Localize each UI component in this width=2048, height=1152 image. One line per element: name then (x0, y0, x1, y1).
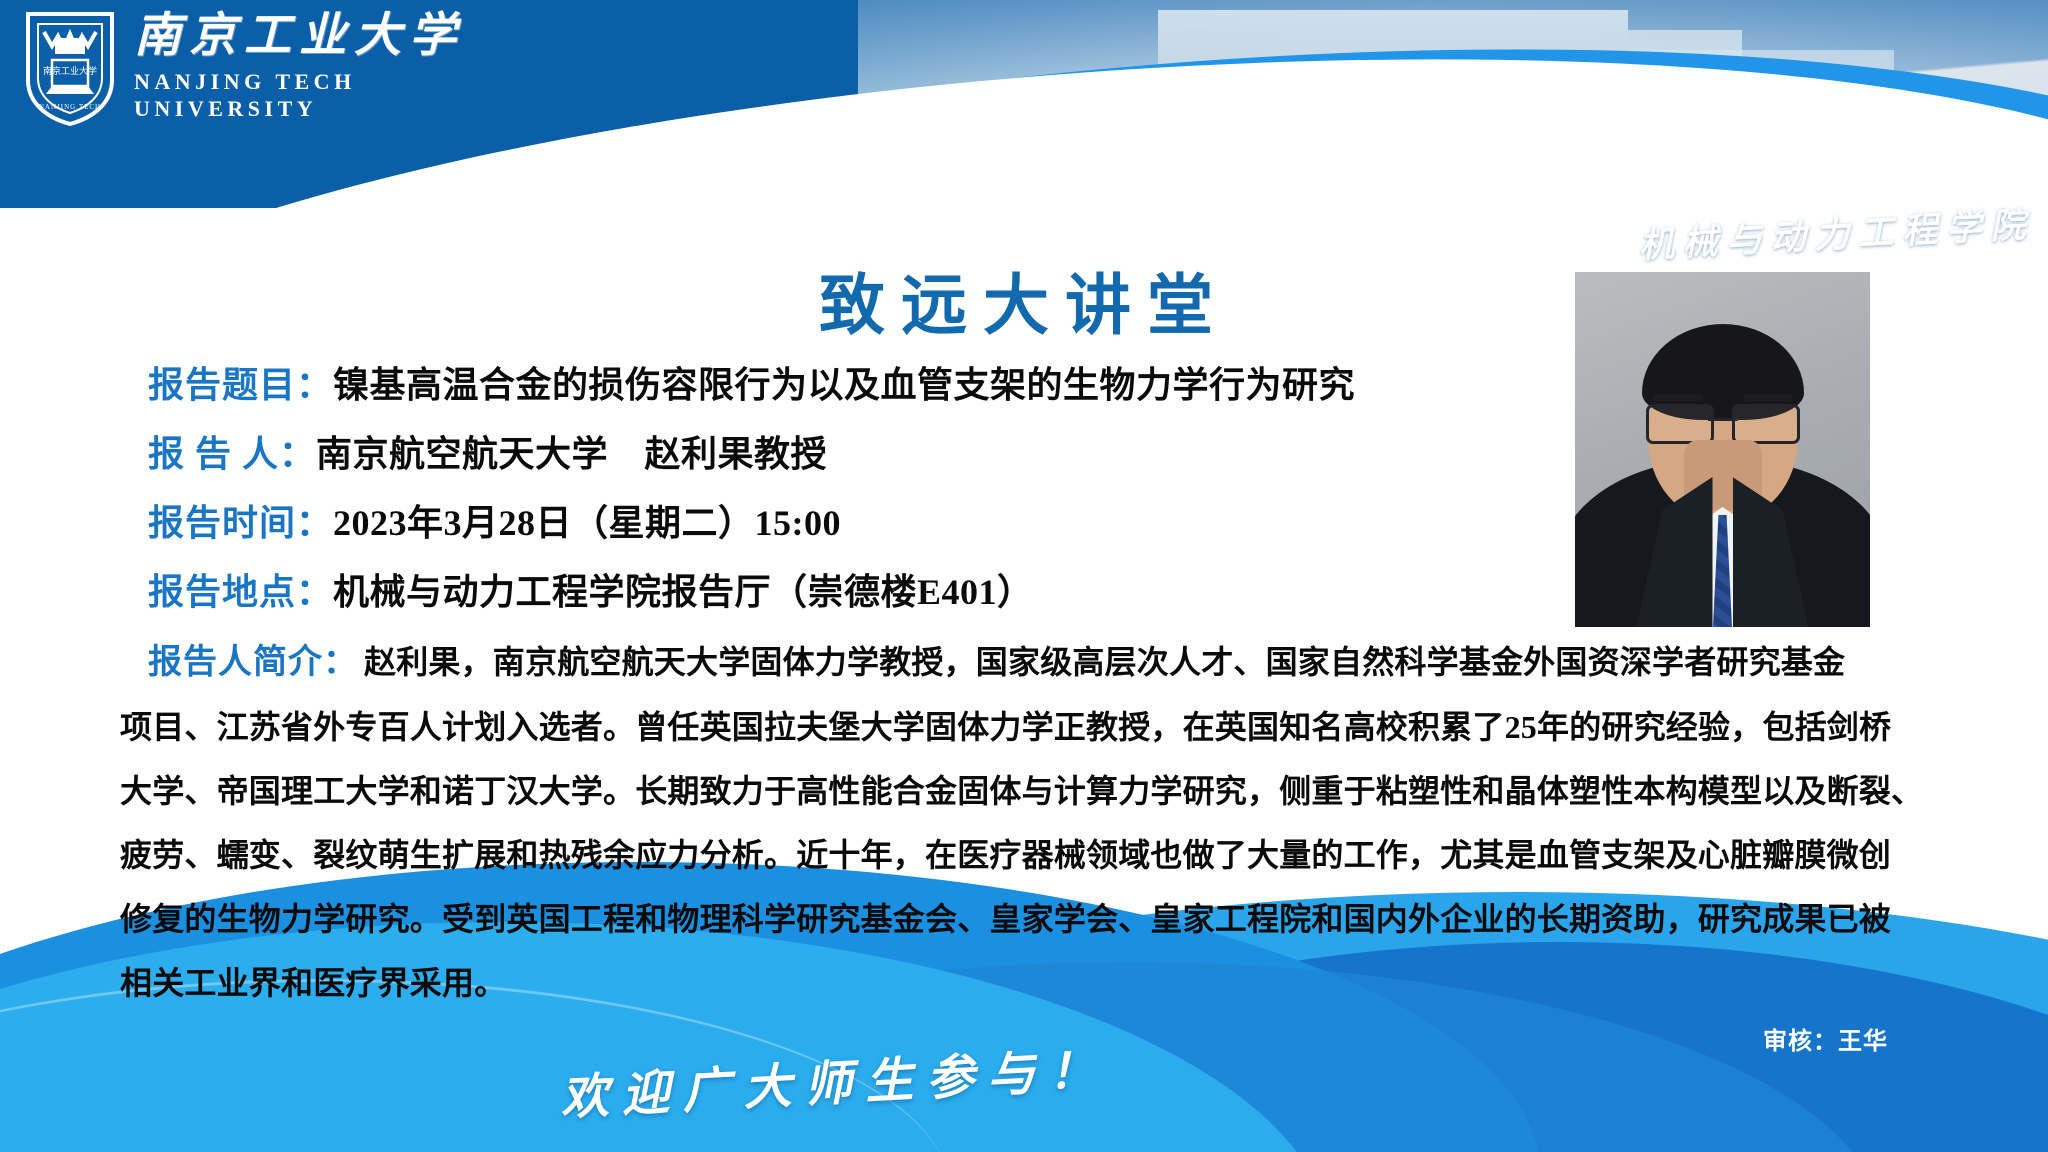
detail-row-speaker: 报 告 人： 南京航空航天大学 赵利果教授 (148, 425, 1355, 477)
university-logo: 南京工业大学 NANJING TECH 南京工业大学 NANJING TECH … (22, 8, 464, 128)
detail-label-time: 报告时间： (148, 494, 333, 546)
university-name-en: NANJING TECH UNIVERSITY (134, 69, 464, 123)
portrait-brow-right (1743, 394, 1793, 401)
detail-row-time: 报告时间： 2023年3月28日（星期二）15:00 (148, 494, 1355, 546)
detail-value-location: 机械与动力工程学院报告厅（崇德楼E401） (333, 563, 1034, 615)
lecture-details: 报告题目： 镍基高温合金的损伤容限行为以及血管支架的生物力学行为研究 报 告 人… (148, 356, 1355, 632)
university-name-block: 南京工业大学 NANJING TECH UNIVERSITY (134, 13, 464, 123)
lecture-poster: 南京工业大学 NANJING TECH 南京工业大学 NANJING TECH … (0, 0, 2048, 1152)
bio-line: 项目、江苏省外专百人计划入选者。曾任英国拉夫堡大学固体力学正教授，在英国知名高校… (120, 695, 1932, 759)
svg-text:NANJING TECH: NANJING TECH (39, 103, 101, 111)
portrait-brow-left (1653, 394, 1703, 401)
glasses-icon (1646, 404, 1800, 444)
detail-row-location: 报告地点： 机械与动力工程学院报告厅（崇德楼E401） (148, 563, 1355, 615)
detail-label-speaker: 报 告 人： (148, 425, 316, 477)
speaker-biography: 报告人简介：赵利果，南京航空航天大学固体力学教授，国家级高层次人才、国家自然科学… (120, 630, 1932, 1015)
bio-line: 报告人简介：赵利果，南京航空航天大学固体力学教授，国家级高层次人才、国家自然科学… (120, 630, 1932, 695)
detail-value-time: 2023年3月28日（星期二）15:00 (333, 494, 841, 546)
shield-icon: 南京工业大学 NANJING TECH (22, 8, 118, 128)
bio-label: 报告人简介： (148, 644, 358, 681)
detail-label-topic: 报告题目： (148, 356, 333, 408)
university-name-cn: 南京工业大学 (134, 13, 464, 60)
bio-line: 相关工业界和医疗界采用。 (120, 951, 1932, 1015)
university-name-en-line2: UNIVERSITY (134, 96, 317, 121)
reviewer-credit-text: 审核：王华 (1763, 1029, 1888, 1055)
bio-line: 修复的生物力学研究。受到英国工程和物理科学研究基金会、皇家学会、皇家工程院和国内… (120, 887, 1932, 951)
svg-text:南京工业大学: 南京工业大学 (43, 65, 97, 76)
bio-line: 疲劳、蠕变、裂纹萌生扩展和热残余应力分析。近十年，在医疗器械领域也做了大量的工作… (120, 823, 1932, 887)
reviewer-credit: 审核：王华 (1763, 1021, 1888, 1056)
speaker-portrait (1575, 272, 1870, 627)
detail-value-speaker: 南京航空航天大学 赵利果教授 (316, 425, 827, 477)
detail-row-topic: 报告题目： 镍基高温合金的损伤容限行为以及血管支架的生物力学行为研究 (148, 356, 1355, 408)
detail-label-location: 报告地点： (148, 563, 333, 615)
university-name-en-line1: NANJING TECH (134, 69, 356, 94)
bio-line: 大学、帝国理工大学和诺丁汉大学。长期致力于高性能合金固体与计算力学研究，侧重于粘… (120, 759, 1932, 823)
bio-line-text: 赵利果，南京航空航天大学固体力学教授，国家级高层次人才、国家自然科学基金外国资深… (364, 644, 1845, 680)
detail-value-topic: 镍基高温合金的损伤容限行为以及血管支架的生物力学行为研究 (333, 356, 1355, 408)
page-title-text: 致远大讲堂 (819, 270, 1229, 343)
